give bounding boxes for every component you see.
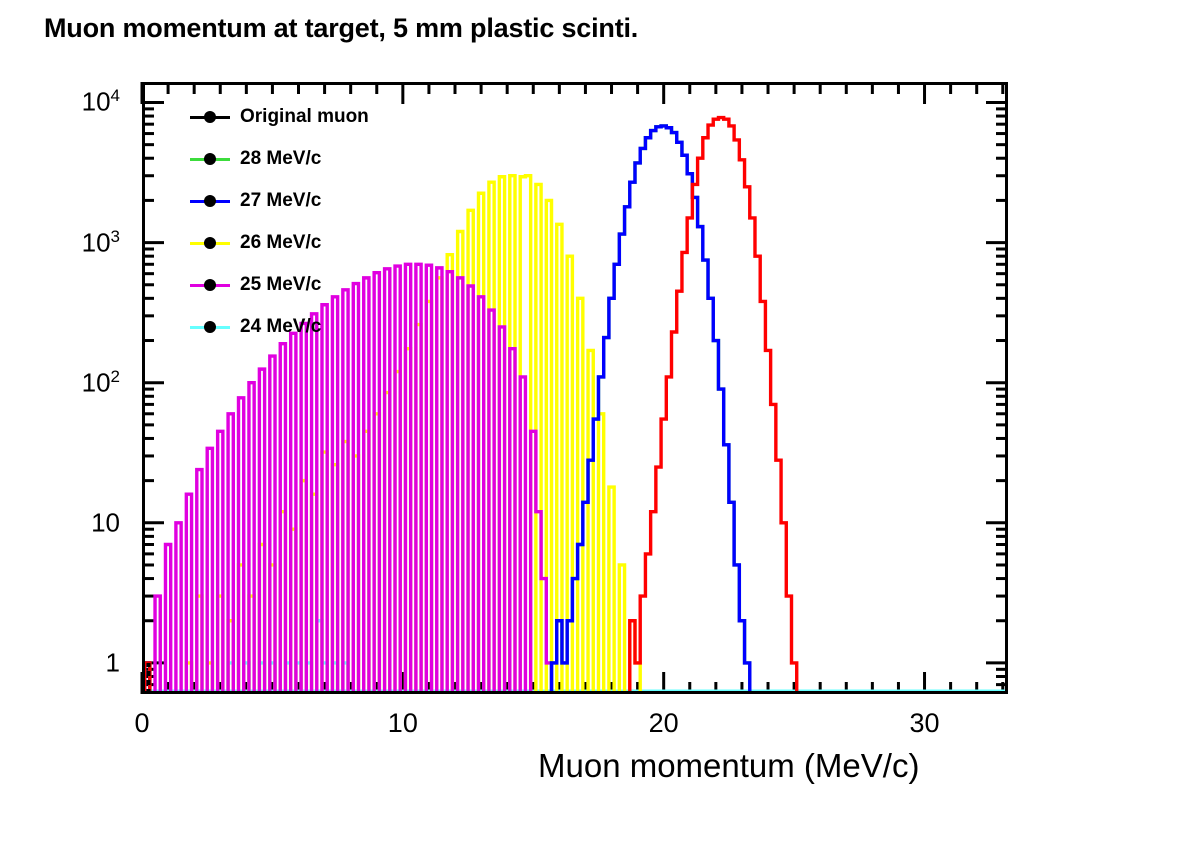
- legend-dot-icon: [204, 153, 216, 165]
- x-tick-label-30: 30: [909, 708, 939, 739]
- legend-item-5[interactable]: 24 MeV/c: [190, 306, 369, 348]
- y-tick-label-100: 102: [0, 367, 120, 398]
- x-axis-title: Muon momentum (MeV/c): [538, 747, 919, 785]
- legend-item-2[interactable]: 27 MeV/c: [190, 180, 369, 222]
- x-tick-label-20: 20: [649, 708, 679, 739]
- legend: Original muon28 MeV/c27 MeV/c26 MeV/c25 …: [190, 96, 369, 348]
- legend-item-0[interactable]: Original muon: [190, 96, 369, 138]
- y-tick-label-10000: 104: [0, 87, 120, 118]
- legend-marker-icon: [190, 236, 230, 250]
- legend-dot-icon: [204, 279, 216, 291]
- y-tick-label-10: 10: [0, 507, 120, 538]
- plot-canvas: Muon momentum at target, 5 mm plastic sc…: [0, 0, 1181, 847]
- legend-marker-icon: [190, 320, 230, 334]
- legend-label: 25 MeV/c: [240, 274, 321, 296]
- legend-marker-icon: [190, 152, 230, 166]
- legend-marker-icon: [190, 278, 230, 292]
- legend-item-3[interactable]: 26 MeV/c: [190, 222, 369, 264]
- legend-label: Original muon: [240, 106, 369, 128]
- legend-label: 27 MeV/c: [240, 190, 321, 212]
- legend-label: 26 MeV/c: [240, 232, 321, 254]
- y-tick-label-1: 1: [0, 647, 120, 678]
- legend-label: 24 MeV/c: [240, 316, 321, 338]
- legend-marker-icon: [190, 110, 230, 124]
- x-tick-label-0: 0: [134, 708, 149, 739]
- legend-label: 28 MeV/c: [240, 148, 321, 170]
- legend-marker-icon: [190, 194, 230, 208]
- legend-dot-icon: [204, 111, 216, 123]
- x-tick-label-10: 10: [388, 708, 418, 739]
- legend-dot-icon: [204, 237, 216, 249]
- legend-dot-icon: [204, 321, 216, 333]
- y-tick-label-1000: 103: [0, 227, 120, 258]
- legend-item-4[interactable]: 25 MeV/c: [190, 264, 369, 306]
- legend-dot-icon: [204, 195, 216, 207]
- legend-item-1[interactable]: 28 MeV/c: [190, 138, 369, 180]
